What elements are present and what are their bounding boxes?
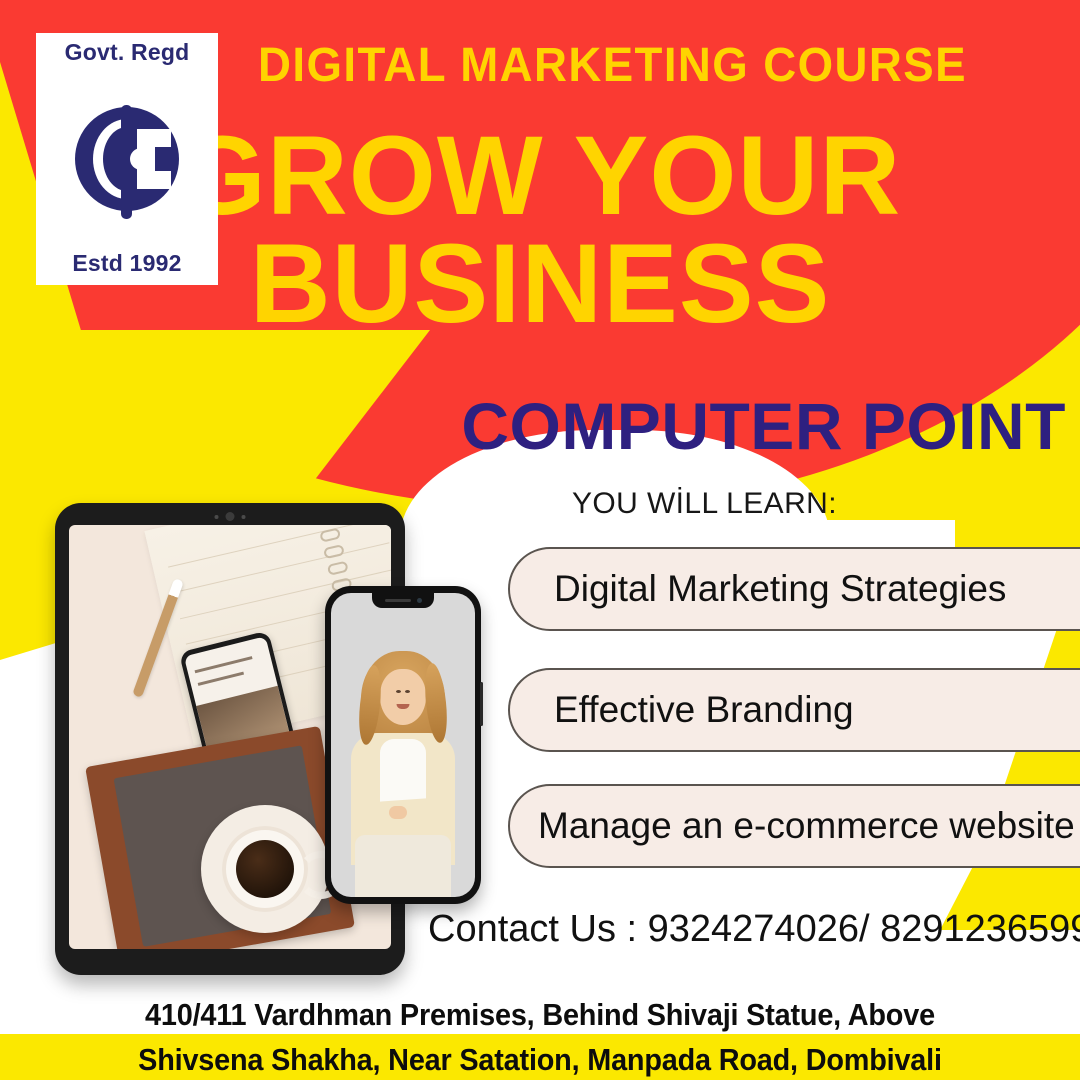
logo-bottom-text: Estd 1992	[72, 250, 181, 277]
company-logo: Govt. Regd Estd 1992	[36, 33, 218, 285]
tablet-camera-icon	[215, 512, 246, 521]
learn-item-3: Manage an e-commerce website	[508, 784, 1080, 868]
woman-face	[380, 669, 426, 725]
address-line-2: Shivsena Shakha, Near Satation, Manpada …	[38, 1042, 1042, 1078]
course-kicker: DIGITAL MARKETING COURSE	[258, 42, 980, 90]
woman-trousers	[355, 835, 451, 897]
contact-line: Contact Us : 9324274026/ 8291236599	[428, 908, 1080, 951]
coffee-cup-object	[222, 826, 308, 912]
you-will-learn-label: YOU WİLL LEARN:	[572, 487, 837, 521]
phone-side-button	[480, 682, 483, 726]
phone-screen	[331, 593, 475, 897]
headline-line-1: GROW YOUR	[179, 113, 902, 238]
brand-name: COMPUTER POINT	[0, 388, 1080, 464]
woman-hand	[389, 806, 407, 819]
poster-canvas: Govt. Regd Estd 1992 DIGITAL MARKETING C…	[0, 0, 1080, 1080]
learn-item-1: Digital Marketing Strategies	[508, 547, 1080, 631]
phone-notch-icon	[372, 593, 434, 608]
learn-item-2: Effective Branding	[508, 668, 1080, 752]
logo-top-text: Govt. Regd	[65, 39, 190, 66]
coffee-saucer-object	[201, 805, 329, 933]
coffee-liquid	[236, 840, 294, 898]
address-line-1: 410/411 Vardhman Premises, Behind Shivaj…	[38, 997, 1042, 1033]
ic-monogram-icon	[59, 83, 195, 233]
smartphone-mockup	[325, 586, 481, 904]
